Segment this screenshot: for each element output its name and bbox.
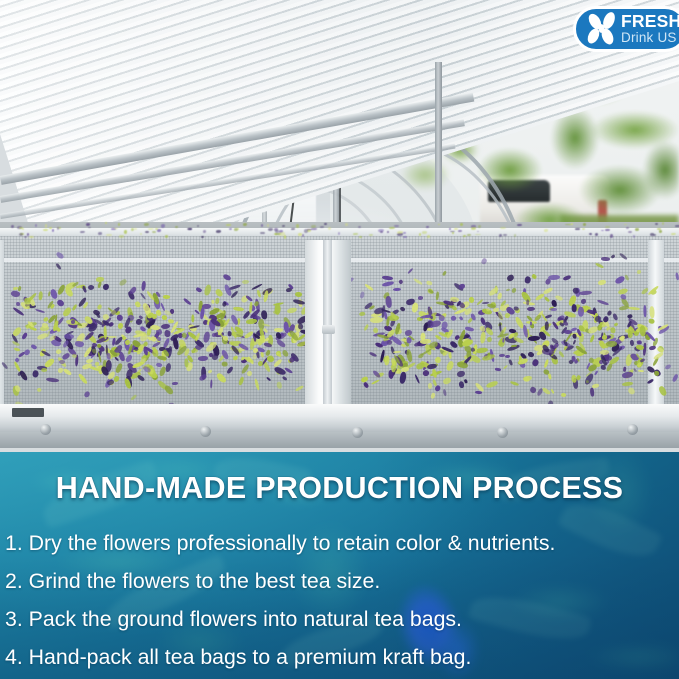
- rail-bolt: [200, 426, 211, 437]
- process-step-2: 2. Grind the flowers to the best tea siz…: [5, 562, 679, 600]
- brand-name-secondary: Drink US: [621, 30, 677, 45]
- panel-title: HAND-MADE PRODUCTION PROCESS: [0, 471, 679, 506]
- brand-name-primary: FRESH: [621, 12, 679, 30]
- rail-bolt: [497, 427, 508, 438]
- table-front-rail: [0, 404, 679, 434]
- product-infographic: FRESH Drink US HAND-MADE PRODUCTION PROC…: [0, 0, 679, 679]
- rail-bolt: [352, 427, 363, 438]
- process-panel: HAND-MADE PRODUCTION PROCESS 1. Dry the …: [0, 452, 679, 679]
- table-front-rail-lower: [0, 432, 679, 448]
- process-step-1: 1. Dry the flowers professionally to ret…: [5, 524, 679, 562]
- greenhouse-photo: [0, 0, 679, 453]
- table-side-rail: [0, 240, 4, 412]
- panel-content: HAND-MADE PRODUCTION PROCESS 1. Dry the …: [0, 452, 679, 679]
- rail-bolt: [627, 424, 638, 435]
- brand-badge[interactable]: FRESH Drink US: [573, 6, 679, 52]
- rail-bolt: [40, 424, 51, 435]
- rail-knob: [322, 325, 335, 334]
- process-step-3: 3. Pack the ground flowers into natural …: [5, 600, 679, 638]
- table-label-plate: [12, 408, 44, 417]
- table-side-rail: [648, 240, 664, 412]
- process-step-4: 4. Hand-pack all tea bags to a premium k…: [5, 638, 679, 676]
- process-steps-list: 1. Dry the flowers professionally to ret…: [5, 524, 679, 676]
